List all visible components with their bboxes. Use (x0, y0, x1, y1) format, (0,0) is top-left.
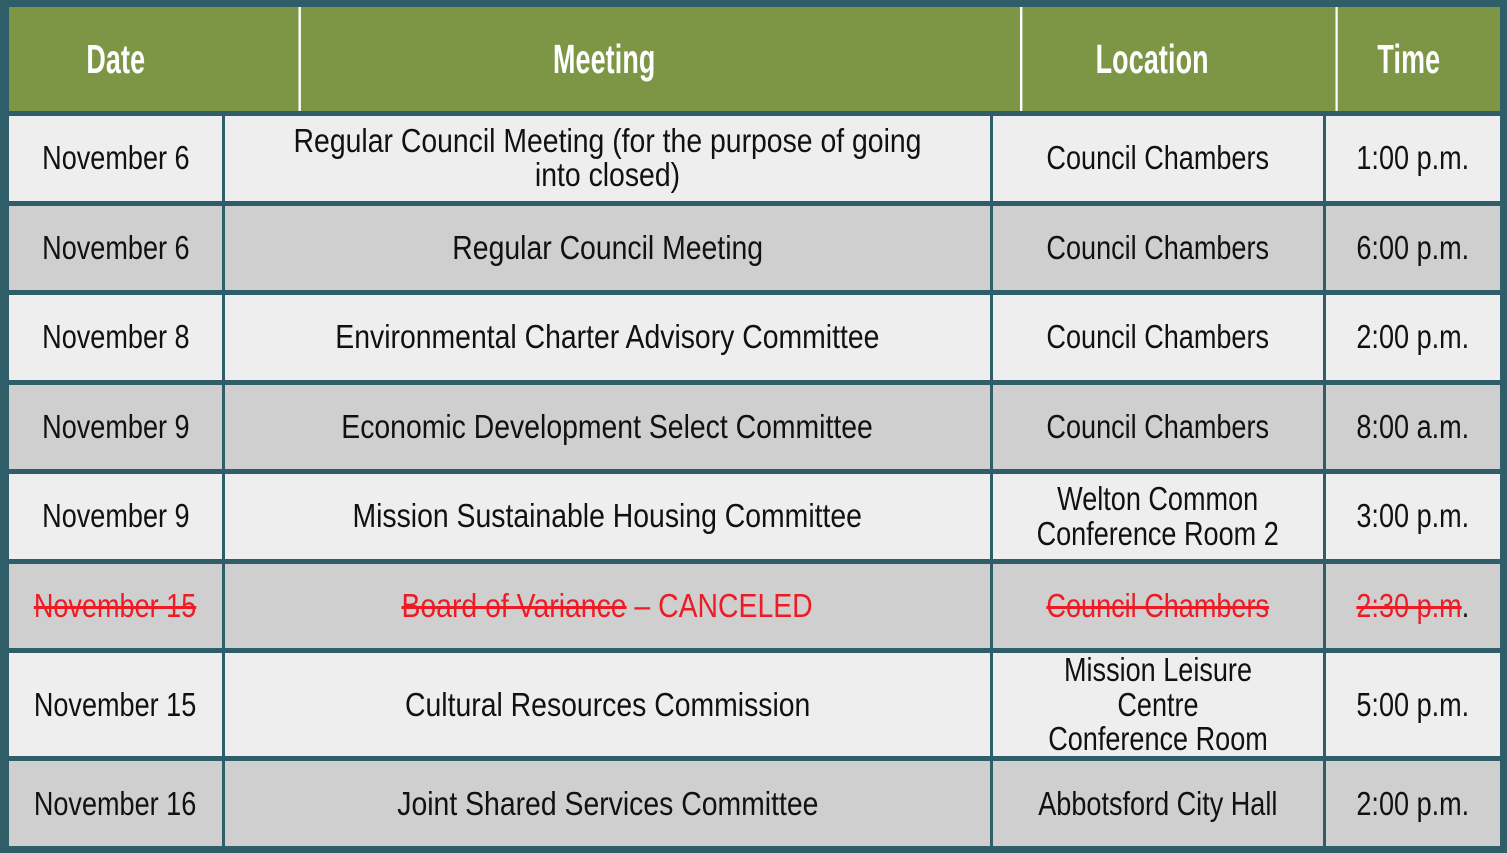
cell-time-suffix: . (1462, 587, 1470, 624)
cell-meeting: Regular Council Meeting (225, 206, 990, 291)
cell-meeting-text: Board of Variance – CANCELED (402, 589, 813, 623)
cell-location: Council Chambers (993, 116, 1323, 201)
cell-date: November 15 (9, 653, 222, 756)
cell-location-text: Council Chambers (1047, 231, 1270, 265)
cell-meeting-text: Regular Council Meeting (for the purpose… (282, 124, 933, 193)
cell-location-text: Council Chambers (1047, 320, 1270, 354)
cell-date-text: November 8 (42, 320, 189, 354)
column-header-meeting: Meeting (299, 7, 911, 111)
cell-date-text: November 6 (42, 141, 189, 175)
cell-meeting-suffix: – CANCELED (627, 587, 813, 624)
column-header-date: Date (30, 7, 200, 111)
cell-meeting: Board of Variance – CANCELED (225, 564, 990, 649)
cell-time: 2:00 p.m. (1326, 761, 1500, 846)
cell-date-text: November 15 (34, 589, 196, 623)
cell-time-text: 8:00 a.m. (1357, 410, 1470, 444)
cell-time-text: 1:00 p.m. (1357, 141, 1470, 175)
cell-meeting: Joint Shared Services Committee (225, 761, 990, 846)
cell-date-text: November 9 (42, 410, 189, 444)
cell-time-text: 2:00 p.m. (1357, 787, 1470, 821)
cell-location: Welton Common Conference Room 2 (993, 474, 1323, 559)
table-body: November 6Regular Council Meeting (for t… (9, 111, 1500, 846)
cell-date: November 6 (9, 116, 222, 201)
cell-time-text: 3:00 p.m. (1357, 499, 1470, 533)
table-row: November 6Regular Council MeetingCouncil… (9, 206, 1500, 291)
table-row: November 8Environmental Charter Advisory… (9, 295, 1500, 380)
cell-location-text: Council Chambers (1047, 141, 1270, 175)
cell-location: Council Chambers (993, 385, 1323, 470)
cell-date-text: November 9 (42, 499, 189, 533)
table-row: November 6Regular Council Meeting (for t… (9, 116, 1500, 201)
cell-time: 8:00 a.m. (1326, 385, 1500, 470)
cell-time: 5:00 p.m. (1326, 653, 1500, 756)
table-row: November 9Economic Development Select Co… (9, 385, 1500, 470)
cell-location: Mission Leisure Centre Conference Room (993, 653, 1323, 756)
cell-meeting: Economic Development Select Committee (225, 385, 990, 470)
cell-date-text: November 16 (34, 787, 196, 821)
cell-date-text: November 15 (34, 688, 196, 722)
cell-meeting-text: Cultural Resources Commission (405, 688, 810, 722)
cell-time-text: 6:00 p.m. (1357, 231, 1470, 265)
cell-location-text: Council Chambers (1047, 589, 1270, 623)
cell-location: Council Chambers (993, 206, 1323, 291)
cell-meeting-text: Economic Development Select Committee (342, 410, 874, 444)
cell-time-text: 5:00 p.m. (1357, 688, 1470, 722)
meeting-schedule-table: Date Meeting Location Time November 6Reg… (0, 0, 1507, 853)
table-row: November 16Joint Shared Services Committ… (9, 761, 1500, 846)
cell-location: Council Chambers (993, 295, 1323, 380)
cell-time: 3:00 p.m. (1326, 474, 1500, 559)
cell-date: November 8 (9, 295, 222, 380)
column-header-time: Time (1335, 7, 1481, 111)
table-header-row: Date Meeting Location Time (9, 7, 1500, 111)
table-row: November 15Board of Variance – CANCELEDC… (9, 564, 1500, 649)
cell-location-text: Welton Common Conference Room 2 (1037, 482, 1279, 551)
cell-time: 2:00 p.m. (1326, 295, 1500, 380)
cell-location-text: Mission Leisure Centre Conference Room (1026, 653, 1290, 756)
cell-location: Council Chambers (993, 564, 1323, 649)
column-header-time-label: Time (1377, 38, 1440, 81)
cell-meeting-text: Regular Council Meeting (452, 231, 763, 265)
cell-time-text: 2:00 p.m. (1357, 320, 1470, 354)
column-header-meeting-label: Meeting (553, 38, 656, 81)
cell-location-text: Council Chambers (1047, 410, 1270, 444)
cell-date: November 9 (9, 385, 222, 470)
cell-time-text: 2:30 p.m. (1357, 589, 1470, 623)
cell-meeting: Cultural Resources Commission (225, 653, 990, 756)
cell-location-text: Abbotsford City Hall (1038, 787, 1277, 821)
column-header-date-label: Date (86, 38, 145, 81)
cell-date: November 6 (9, 206, 222, 291)
table-row: November 9Mission Sustainable Housing Co… (9, 474, 1500, 559)
cell-time: 2:30 p.m. (1326, 564, 1500, 649)
cell-date: November 15 (9, 564, 222, 649)
cell-location: Abbotsford City Hall (993, 761, 1323, 846)
cell-meeting-text: Environmental Charter Advisory Committee (335, 320, 879, 354)
cell-meeting: Environmental Charter Advisory Committee (225, 295, 990, 380)
cell-date: November 16 (9, 761, 222, 846)
cell-date-text: November 6 (42, 231, 189, 265)
cell-meeting-text: Mission Sustainable Housing Committee (353, 499, 862, 533)
cell-meeting: Mission Sustainable Housing Committee (225, 474, 990, 559)
cell-time: 1:00 p.m. (1326, 116, 1500, 201)
cell-date: November 9 (9, 474, 222, 559)
cell-meeting-text: Joint Shared Services Committee (397, 787, 818, 821)
column-header-location: Location (1020, 7, 1284, 111)
cell-time: 6:00 p.m. (1326, 206, 1500, 291)
table-row: November 15Cultural Resources Commission… (9, 653, 1500, 756)
column-header-location-label: Location (1095, 38, 1208, 81)
cell-meeting: Regular Council Meeting (for the purpose… (225, 116, 990, 201)
